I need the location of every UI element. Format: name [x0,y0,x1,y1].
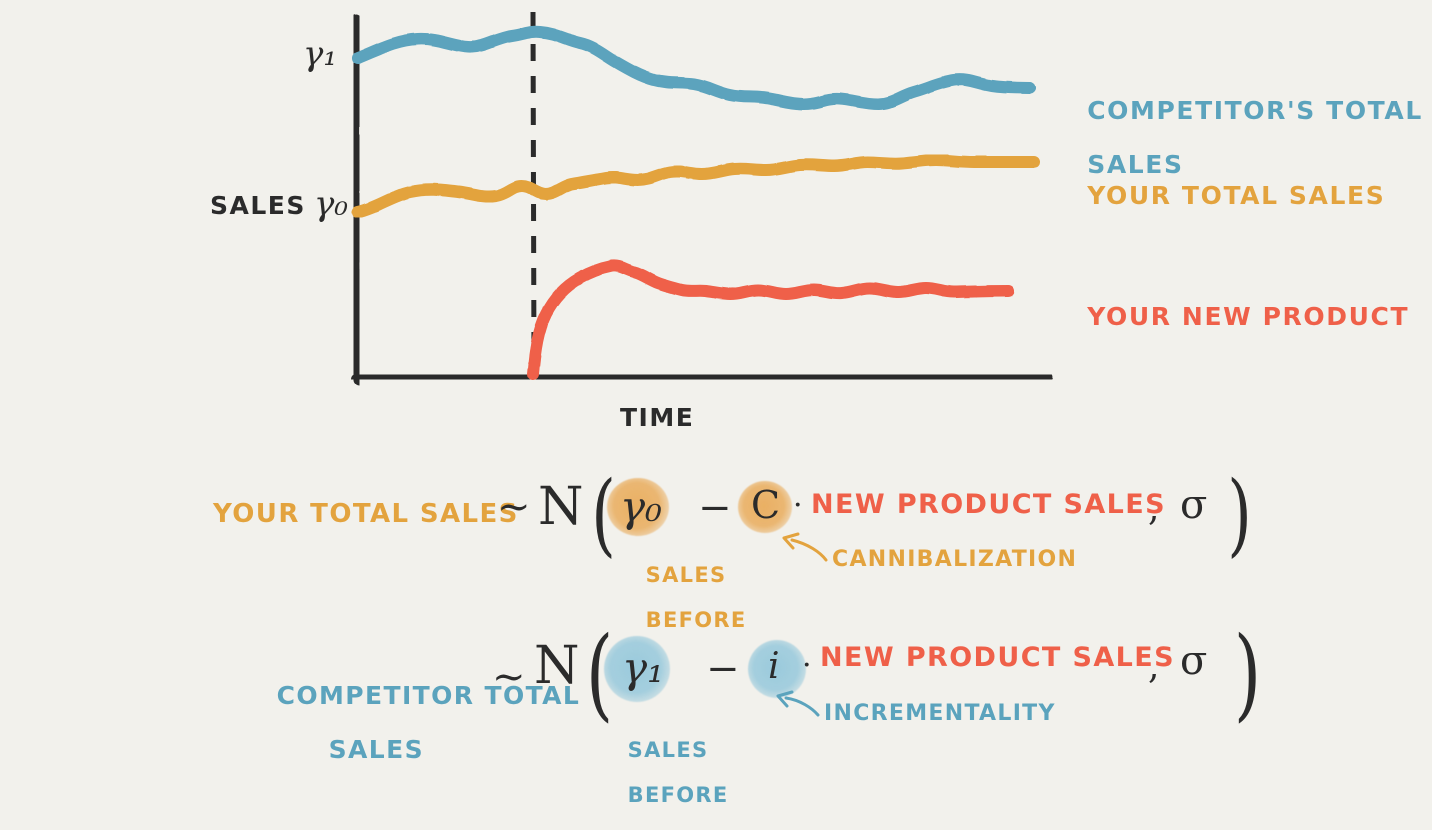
eq2-annotation-arrow-svg [0,0,1432,788]
eq2-coef-annotation: INCREMENTALITY [824,702,1056,726]
eq2-annotation-arrow [786,698,818,715]
diagram-canvas: SALES γ₁ γ₀ TIME COMPETITOR'S TOTAL SALE… [0,0,1432,788]
